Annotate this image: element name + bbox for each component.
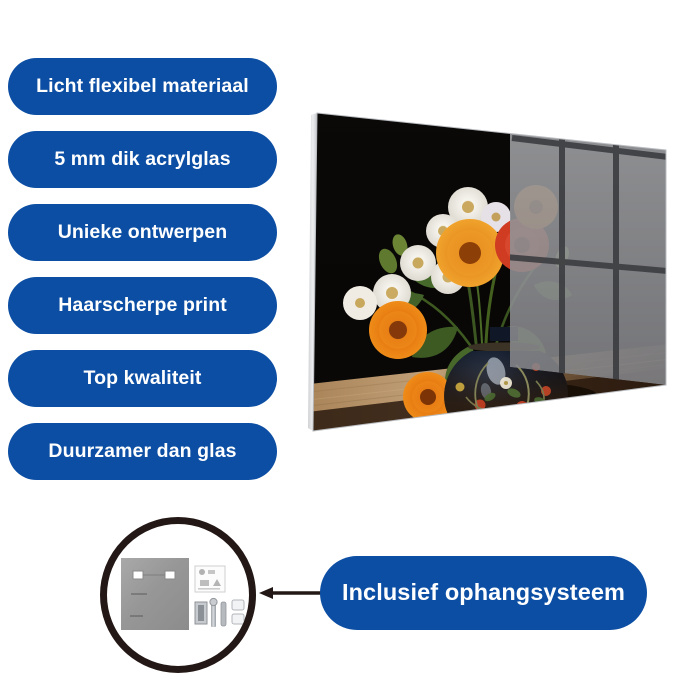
feature-pill-label: Haarscherpe print (58, 296, 227, 316)
dowel (221, 602, 226, 626)
callout-arrow-svg (255, 578, 325, 608)
callout-pill-label: Inclusief ophangsysteem (342, 581, 625, 605)
feature-pill-flexible-material[interactable]: Licht flexibel materiaal (8, 58, 277, 115)
feature-pill-top-quality[interactable]: Top kwaliteit (8, 350, 277, 407)
feature-pill-label: 5 mm dik acrylglas (54, 150, 230, 170)
feature-pill-label: Unieke ontwerpen (58, 223, 228, 243)
feature-pill-label: Duurzamer dan glas (48, 442, 236, 462)
spacer-bottom (232, 614, 244, 624)
acrylic-glass-panel (300, 95, 680, 445)
feature-pill-thickness[interactable]: 5 mm dik acrylglas (8, 131, 277, 188)
arrow-head-icon (259, 587, 273, 599)
callout-connector (255, 578, 325, 608)
plate-slot-left (133, 571, 143, 579)
feature-pill-label: Licht flexibel materiaal (36, 77, 249, 97)
window-reflection (506, 131, 668, 385)
printed-artwork (300, 95, 680, 445)
feature-pill-durability[interactable]: Duurzamer dan glas (8, 423, 277, 480)
feature-pill-label: Top kwaliteit (84, 369, 202, 389)
feature-pill-unique-designs[interactable]: Unieke ontwerpen (8, 204, 277, 261)
plate-slot-right (165, 571, 175, 579)
feature-pill-sharp-print[interactable]: Haarscherpe print (8, 277, 277, 334)
product-infographic: Licht flexibel materiaal 5 mm dik acrylg… (0, 0, 700, 700)
panel-svg (300, 95, 680, 445)
mounting-kit-illustration (107, 524, 249, 666)
screw-head (210, 598, 217, 605)
callout-pill-hanging-system[interactable]: Inclusief ophangsysteem (320, 556, 647, 630)
mounting-kit-circle (100, 517, 256, 673)
wall-anchor-core (198, 605, 204, 621)
spacer-top (232, 600, 244, 610)
